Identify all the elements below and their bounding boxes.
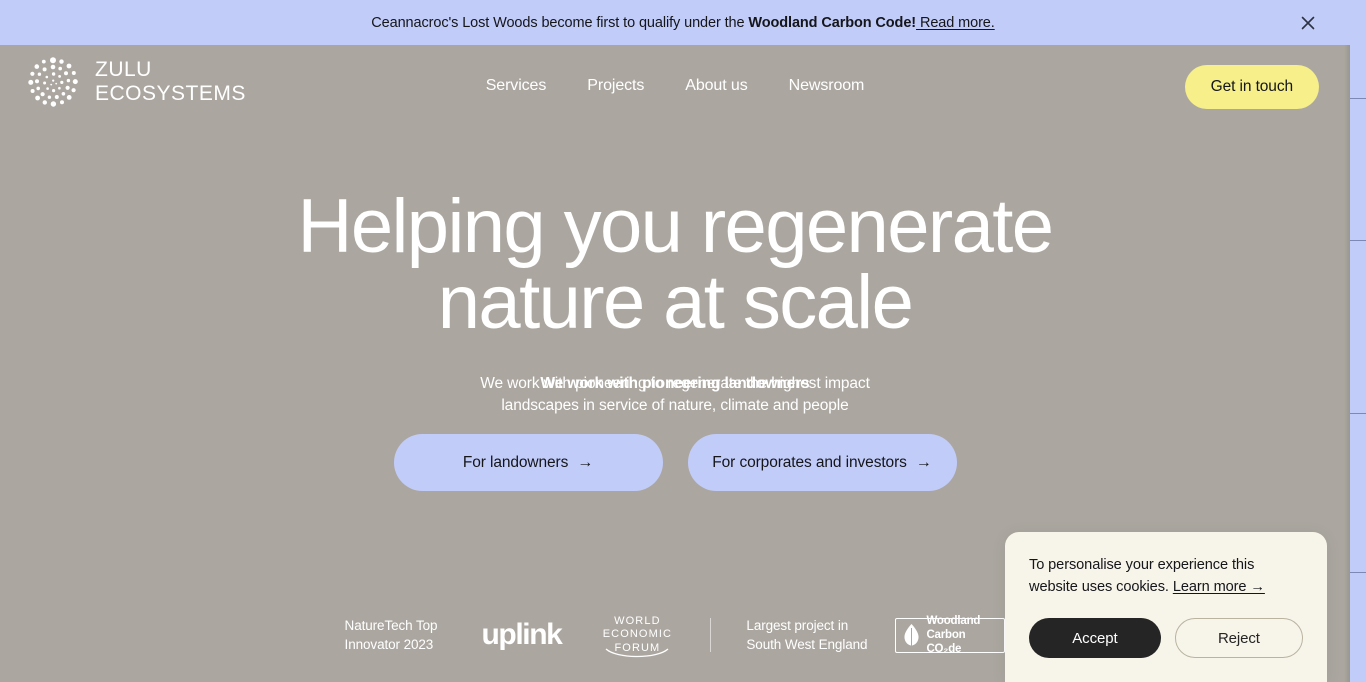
- announcement-read-more-link[interactable]: Read more.: [916, 15, 995, 31]
- leaf-icon: [902, 623, 921, 647]
- cookie-reject-button[interactable]: Reject: [1175, 618, 1303, 658]
- hero-title-line-2: nature at scale: [295, 265, 1055, 341]
- cookie-consent-banner: To personalise your experience this webs…: [1005, 532, 1327, 682]
- announcement-banner: Ceannacroc's Lost Woods become first to …: [0, 0, 1366, 45]
- hero-subtitle-stack: We work with pioneering to regenerate th…: [460, 373, 890, 419]
- announcement-text: Ceannacroc's Lost Woods become first to …: [371, 15, 994, 31]
- for-corporates-button[interactable]: For corporates and investors →: [688, 434, 957, 491]
- arrow-right-icon: →: [577, 454, 593, 472]
- world-economic-forum-logo: WORLD ECONOMIC FORUM: [599, 615, 675, 655]
- scrollbar-divider: [1350, 413, 1366, 414]
- close-icon: [1301, 16, 1315, 30]
- hero-cta-group: For landowners → For corporates and inve…: [0, 434, 1350, 491]
- nav-item-about-us[interactable]: About us: [685, 77, 747, 95]
- nav-item-services[interactable]: Services: [486, 77, 547, 95]
- page-root: ZULU ECOSYSTEMS Services Projects About …: [0, 0, 1366, 682]
- cookie-learn-more-link[interactable]: Learn more →: [1173, 579, 1265, 595]
- get-in-touch-button[interactable]: Get in touch: [1185, 65, 1319, 109]
- for-landowners-label: For landowners: [463, 454, 568, 472]
- site-header: ZULU ECOSYSTEMS Services Projects About …: [0, 45, 1350, 127]
- cookie-consent-text: To personalise your experience this webs…: [1029, 554, 1303, 598]
- nav-item-projects[interactable]: Projects: [587, 77, 644, 95]
- hero-subtitle-incoming: We work with pioneering landowners: [460, 373, 890, 395]
- announcement-text-lead: Ceannacroc's Lost Woods become first to …: [371, 15, 748, 31]
- cookie-actions: Accept Reject: [1029, 618, 1303, 658]
- for-landowners-button[interactable]: For landowners →: [394, 434, 663, 491]
- scrollbar-divider: [1350, 98, 1366, 99]
- scrollbar-divider: [1350, 240, 1366, 241]
- naturetech-line-1: NatureTech Top: [345, 616, 438, 635]
- cookie-accept-button[interactable]: Accept: [1029, 618, 1161, 658]
- hero-section: Helping you regenerate nature at scale W…: [0, 127, 1350, 567]
- page-scrollbar[interactable]: [1350, 0, 1366, 682]
- woodland-line-2: Carbon CO₂de: [926, 628, 998, 656]
- for-corporates-label: For corporates and investors: [712, 454, 907, 472]
- scrollbar-divider: [1350, 572, 1366, 573]
- woodland-line-1: Woodland: [926, 614, 998, 628]
- wef-line-1: WORLD: [599, 615, 675, 628]
- naturetech-line-2: Innovator 2023: [345, 635, 438, 654]
- nav-item-newsroom[interactable]: Newsroom: [789, 77, 865, 95]
- main-navigation: Services Projects About us Newsroom: [0, 45, 1350, 127]
- hero-title-line-1: Helping you regenerate: [298, 184, 1053, 269]
- project-line-2: South West England: [746, 635, 867, 654]
- woodland-carbon-code-text: Woodland Carbon CO₂de: [926, 614, 998, 656]
- uplink-logo: uplink: [481, 618, 561, 652]
- wef-arc-icon: [605, 648, 669, 660]
- largest-project-claim: Largest project in South West England: [746, 616, 867, 654]
- hero-title: Helping you regenerate nature at scale: [295, 189, 1055, 341]
- arrow-right-icon: →: [916, 454, 932, 472]
- naturetech-award: NatureTech Top Innovator 2023: [345, 616, 438, 654]
- woodland-carbon-code-badge: Woodland Carbon CO₂de: [895, 618, 1005, 653]
- project-line-1: Largest project in: [746, 616, 867, 635]
- announcement-text-strong: Woodland Carbon Code!: [748, 15, 916, 31]
- credentials-divider: [710, 618, 711, 652]
- announcement-close-button[interactable]: [1297, 12, 1319, 34]
- wef-line-2: ECONOMIC: [599, 628, 675, 641]
